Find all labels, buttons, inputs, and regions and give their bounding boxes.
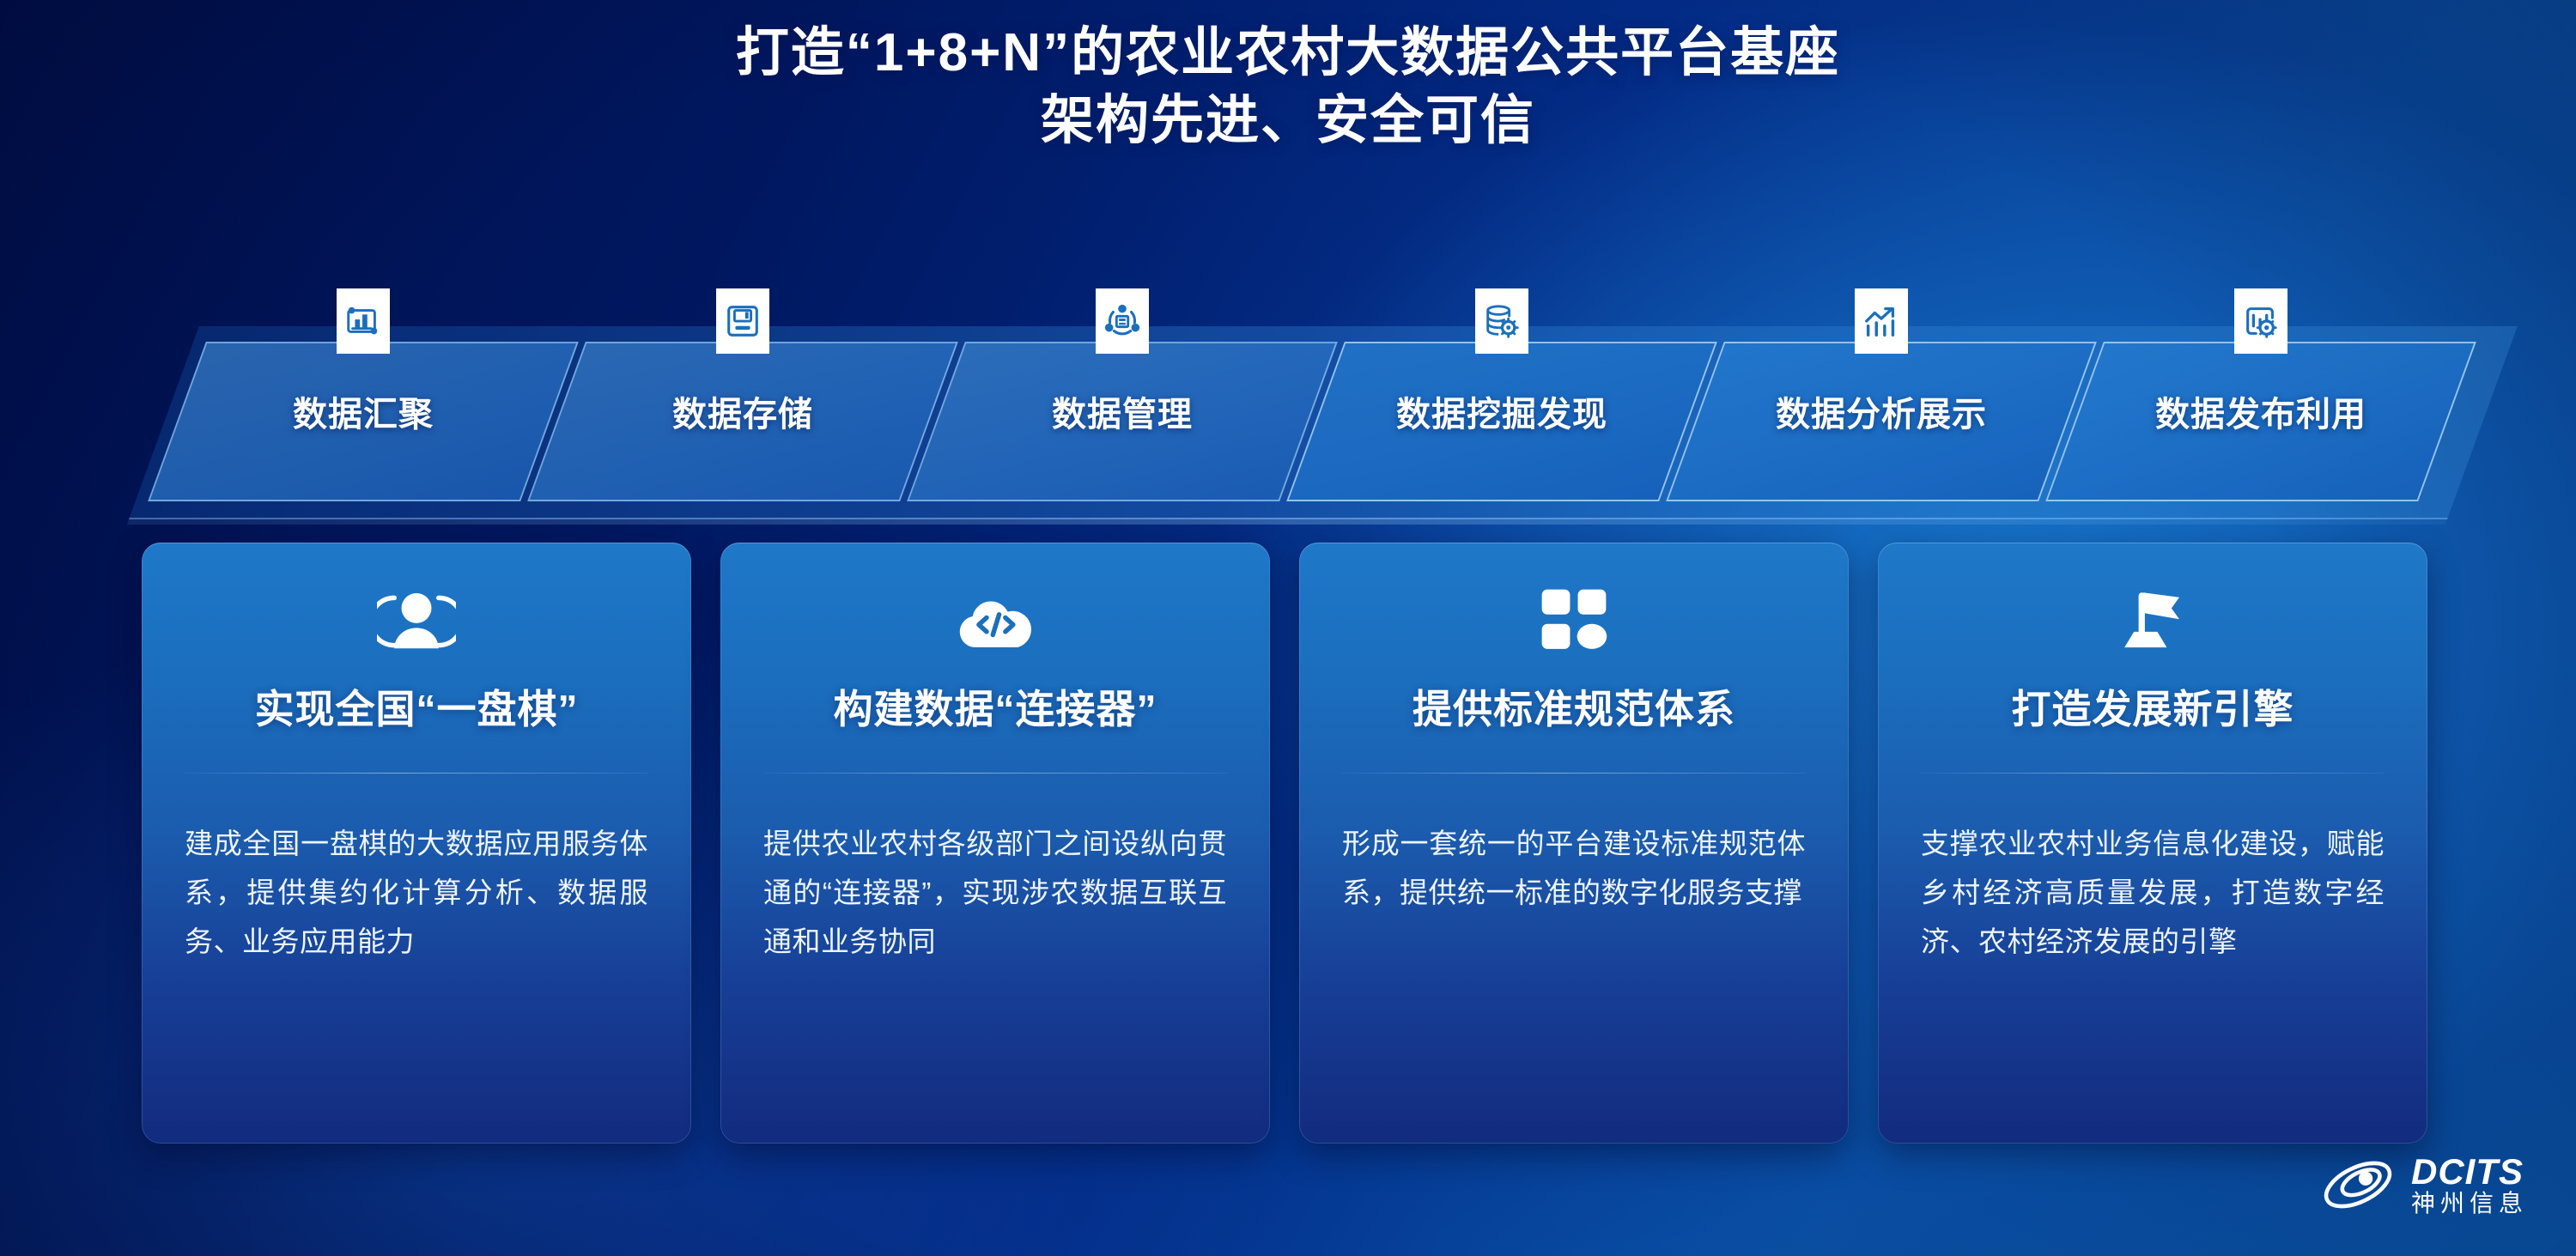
company-logo: DCITS 神州信息 xyxy=(2318,1151,2528,1218)
bar-chart-frame-icon xyxy=(337,288,390,354)
pipeline-step-label: 数据分析展示 xyxy=(1695,386,2068,436)
pipeline-step-label: 数据汇聚 xyxy=(177,386,550,436)
card-title: 打造发展新引擎 xyxy=(1921,678,2385,735)
feature-card-standard-system[interactable]: 提供标准规范体系 形成一套统一的平台建设标准规范体系，提供统一标准的数字化服务支… xyxy=(1299,543,1849,1144)
card-body-text: 支撑农业农村业务信息化建设，赋能乡村经济高质量发展，打造数字经济、农村经济发展的… xyxy=(1921,820,2385,966)
feature-card-growth-engine[interactable]: 打造发展新引擎 支撑农业农村业务信息化建设，赋能乡村经济高质量发展，打造数字经济… xyxy=(1878,543,2427,1144)
card-body-text: 提供农业农村各级部门之间设纵向贯通的“连接器”，实现涉农数据互联互通和业务协同 xyxy=(763,820,1227,966)
floppy-disk-icon xyxy=(716,288,769,354)
report-gear-icon xyxy=(2234,288,2287,354)
pipeline-step-label: 数据存储 xyxy=(556,386,929,436)
card-divider xyxy=(185,773,648,774)
title-line-1: 打造“1+8+N”的农业农村大数据公共平台基座 xyxy=(0,19,2576,87)
pipeline-step-data-storage[interactable]: 数据存储 xyxy=(556,342,929,501)
pipeline-step-label: 数据发布利用 xyxy=(2075,386,2447,436)
dcits-swirl-icon xyxy=(2318,1151,2397,1218)
people-group-icon xyxy=(185,580,648,663)
logo-cn-name: 神州信息 xyxy=(2411,1192,2528,1216)
pipeline-step-data-management[interactable]: 数据管理 xyxy=(936,342,1309,501)
cloud-code-icon xyxy=(763,580,1227,663)
page-title: 打造“1+8+N”的农业农村大数据公共平台基座 架构先进、安全可信 xyxy=(0,19,2576,155)
card-divider xyxy=(1342,773,1806,774)
feature-card-data-connector[interactable]: 构建数据“连接器” 提供农业农村各级部门之间设纵向贯通的“连接器”，实现涉农数据… xyxy=(720,543,1270,1144)
card-title: 实现全国“一盘棋” xyxy=(185,678,648,735)
flag-icon xyxy=(1921,580,2385,663)
feature-card-national-one-board[interactable]: 实现全国“一盘棋” 建成全国一盘棋的大数据应用服务体系，提供集约化计算分析、数据… xyxy=(142,543,691,1144)
card-body-text: 建成全国一盘棋的大数据应用服务体系，提供集约化计算分析、数据服务、业务应用能力 xyxy=(185,820,648,966)
database-gear-icon xyxy=(1475,288,1528,354)
trend-bar-chart-icon xyxy=(1855,288,1908,354)
pipeline-step-label: 数据挖掘发现 xyxy=(1315,386,1688,436)
pipeline-step-data-mining[interactable]: 数据挖掘发现 xyxy=(1315,342,1688,501)
card-title: 提供标准规范体系 xyxy=(1342,678,1806,735)
card-title: 构建数据“连接器” xyxy=(763,678,1227,735)
four-blocks-icon xyxy=(1342,580,1806,663)
card-divider xyxy=(763,773,1227,774)
pipeline-step-label: 数据管理 xyxy=(936,386,1309,436)
pipeline-step-data-aggregation[interactable]: 数据汇聚 xyxy=(177,342,550,501)
card-body-text: 形成一套统一的平台建设标准规范体系，提供统一标准的数字化服务支撑 xyxy=(1342,820,1806,918)
title-line-2: 架构先进、安全可信 xyxy=(0,87,2576,155)
pipeline-steps: 数据汇聚 数据存储 xyxy=(177,342,2447,501)
pipeline-band: 数据汇聚 数据存储 xyxy=(129,326,2447,519)
card-divider xyxy=(1921,773,2385,774)
pipeline-step-data-analysis[interactable]: 数据分析展示 xyxy=(1695,342,2068,501)
logo-en-name: DCITS xyxy=(2411,1154,2528,1190)
network-nodes-icon xyxy=(1096,288,1149,354)
pipeline-step-data-publishing[interactable]: 数据发布利用 xyxy=(2075,342,2447,501)
feature-cards: 实现全国“一盘棋” 建成全国一盘棋的大数据应用服务体系，提供集约化计算分析、数据… xyxy=(142,543,2427,1144)
logo-text: DCITS 神州信息 xyxy=(2411,1154,2528,1216)
